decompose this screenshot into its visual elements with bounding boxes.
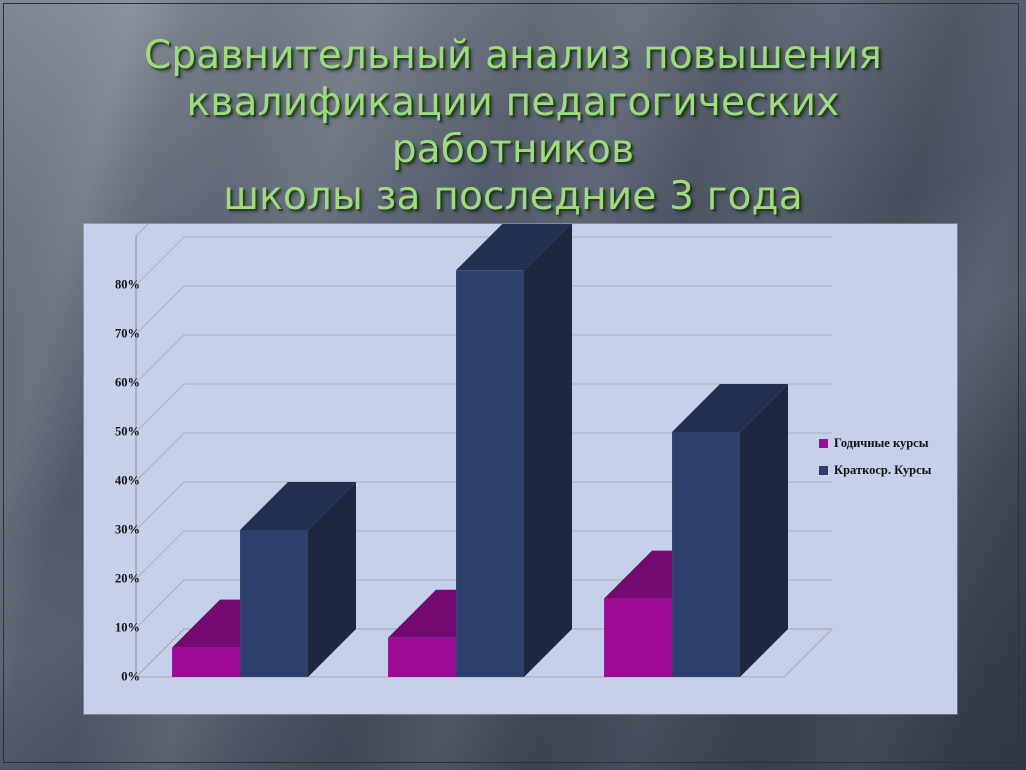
chart-container[interactable]: 0%10%20%30%40%50%60%70%80% Годичные курс… — [84, 224, 957, 714]
y-axis-tick-label: 0% — [94, 670, 140, 685]
title-line-3: школы за последние 3 года — [60, 173, 966, 220]
legend-item[interactable]: Годичные курсы — [819, 436, 959, 451]
y-axis-tick-label: 70% — [94, 327, 140, 342]
slide-background: Сравнительный анализ повышения квалифика… — [0, 0, 1026, 770]
legend-swatch-godichnye — [819, 439, 828, 448]
y-axis-tick-label: 80% — [94, 278, 140, 293]
legend-swatch-kratkosr — [819, 466, 828, 475]
y-axis-labels: 0%10%20%30%40%50%60%70%80% — [94, 224, 140, 714]
y-axis-tick-label: 50% — [94, 425, 140, 440]
legend-label: Годичные курсы — [834, 436, 929, 451]
y-axis-tick-label: 20% — [94, 572, 140, 587]
y-axis-tick-label: 30% — [94, 523, 140, 538]
y-axis-tick-label: 40% — [94, 474, 140, 489]
title-line-2: квалификации педагогических работников — [60, 79, 966, 173]
title-line-1: Сравнительный анализ повышения — [60, 32, 966, 79]
y-axis-tick-label: 10% — [94, 621, 140, 636]
legend-label: Краткоср. Курсы — [834, 463, 931, 478]
y-axis-tick-label: 60% — [94, 376, 140, 391]
page-title: Сравнительный анализ повышения квалифика… — [60, 32, 966, 220]
chart-legend: Годичные курсы Краткоср. Курсы — [819, 436, 959, 490]
legend-item[interactable]: Краткоср. Курсы — [819, 463, 959, 478]
